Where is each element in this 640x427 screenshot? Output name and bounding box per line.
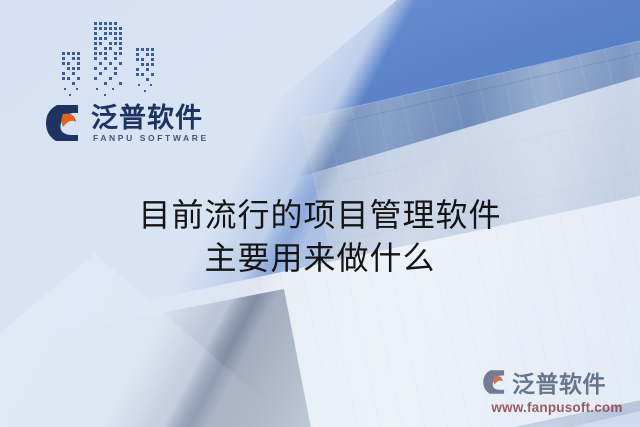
watermark-logo-row: 泛普软件 <box>482 365 632 399</box>
brand-logo: 泛普软件 FANPU SOFTWARE <box>44 103 209 144</box>
brand-name-en: FANPU SOFTWARE <box>91 132 209 144</box>
brand-name-cn: 泛普软件 <box>91 104 209 132</box>
headline-line-2: 主要用来做什么 <box>0 237 640 280</box>
headline-line-1: 目前流行的项目管理软件 <box>138 196 501 234</box>
headline: 目前流行的项目管理软件 主要用来做什么 <box>0 194 640 280</box>
fanpu-hexagon-swoosh-icon <box>482 369 508 395</box>
promo-banner: 泛普软件 FANPU SOFTWARE 目前流行的项目管理软件 主要用来做什么 … <box>0 0 640 427</box>
watermark-brand-name: 泛普软件 <box>512 365 606 399</box>
fanpu-hexagon-swoosh-icon <box>44 103 84 143</box>
brand-logo-text: 泛普软件 FANPU SOFTWARE <box>91 103 209 144</box>
watermark: 泛普软件 www.fanpusoft.com <box>482 365 632 415</box>
pixel-skyline-icon <box>52 18 172 110</box>
watermark-url: www.fanpusoft.com <box>482 400 632 415</box>
